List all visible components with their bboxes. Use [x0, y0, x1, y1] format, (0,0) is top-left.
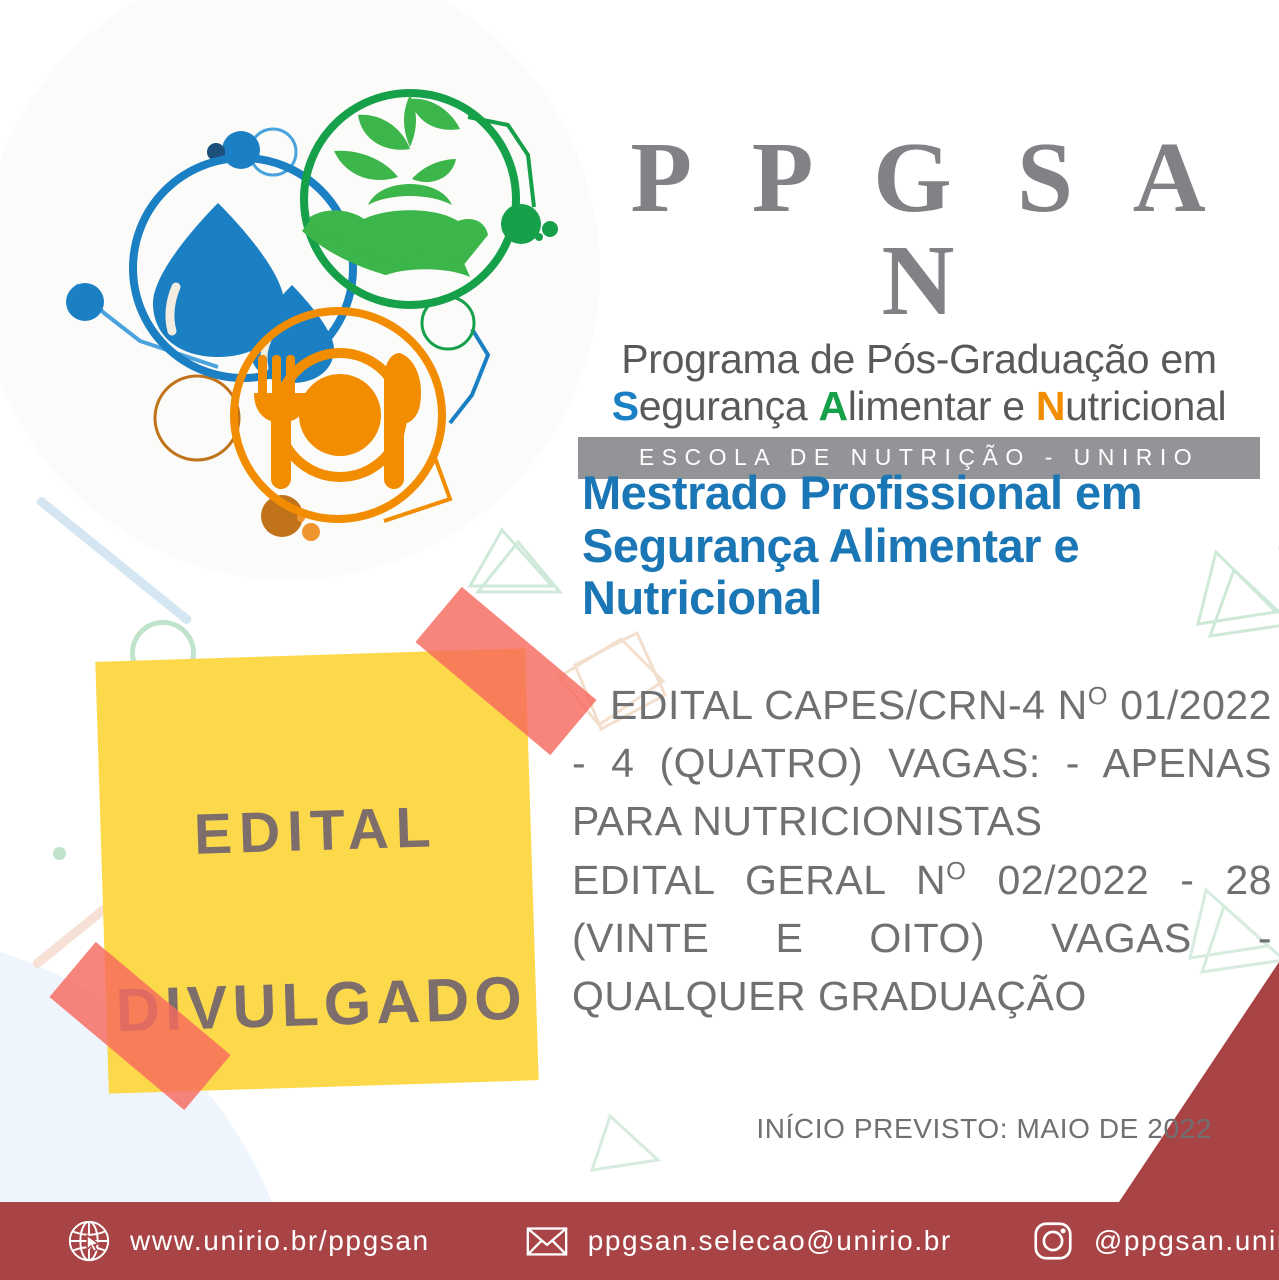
brand-header: P P G S A N Programa de Pós-Graduação em… — [578, 126, 1260, 479]
logo-ring-small-orange — [155, 376, 239, 460]
footer-instagram[interactable]: @ppgsan.unirio — [1030, 1218, 1279, 1264]
mail-icon — [524, 1218, 570, 1264]
ppgsan-logo — [58, 55, 578, 565]
brand-program-line2: Segurança Alimentar e Nutricional — [578, 384, 1260, 428]
brand-text-alimentar: limentar e — [848, 383, 1036, 429]
edital-geral-pre: EDITAL GERAL N — [572, 857, 946, 903]
footer-instagram-label: @ppgsan.unirio — [1094, 1225, 1279, 1257]
contact-footer: www.unirio.br/ppgsan ppgsan.selecao@unir… — [0, 1202, 1279, 1280]
logo-connector-green — [468, 117, 534, 207]
footer-website[interactable]: www.unirio.br/ppgsan — [66, 1218, 430, 1264]
brand-letter-s: S — [612, 383, 639, 429]
brand-text-seguranca: egurança — [639, 383, 819, 429]
brand-letter-a: A — [818, 383, 847, 429]
logo-connector-blue2 — [450, 329, 488, 423]
globe-icon — [66, 1218, 112, 1264]
course-title: Mestrado Profissional em Segurança Alime… — [582, 467, 1272, 625]
logo-dot-blue-left — [66, 283, 104, 321]
edital-geral-ordinal: O — [946, 857, 966, 885]
footer-email-label: ppgsan.selecao@unirio.br — [588, 1225, 952, 1257]
edital-paragraph-capes: EDITAL CAPES/CRN-4 NO 01/2022 - 4 (QUATR… — [572, 676, 1272, 851]
brand-acronym: P P G S A N — [578, 126, 1260, 332]
brand-letter-n: N — [1036, 383, 1065, 429]
start-date-note: INÍCIO PREVISTO: MAIO DE 2022 — [572, 1113, 1212, 1145]
footer-email[interactable]: ppgsan.selecao@unirio.br — [524, 1218, 952, 1264]
logo-plate-cutlery — [254, 353, 421, 489]
poster-canvas: P P G S A N Programa de Pós-Graduação em… — [0, 0, 1279, 1280]
edital-capes-ordinal: O — [1088, 682, 1108, 710]
logo-dot-green-tiny — [535, 233, 543, 241]
brand-program-line1: Programa de Pós-Graduação em — [578, 337, 1260, 381]
logo-hand-plant — [302, 95, 488, 277]
logo-svg — [58, 55, 578, 565]
edital-paragraph-geral: EDITAL GERAL NO 02/2022 - 28 (VINTE E OI… — [572, 851, 1272, 1026]
instagram-icon — [1030, 1218, 1076, 1264]
footer-website-label: www.unirio.br/ppgsan — [130, 1225, 430, 1257]
decor-dot-green — [53, 847, 66, 860]
edital-capes-pre: EDITAL CAPES/CRN-4 N — [610, 682, 1088, 728]
sticky-note-line1: EDITAL — [98, 740, 533, 922]
editais-body: EDITAL CAPES/CRN-4 NO 01/2022 - 4 (QUATR… — [572, 676, 1272, 1025]
logo-dot-blue-large — [222, 131, 260, 169]
logo-dot-green-small — [542, 221, 558, 237]
brand-text-nutricional: utricional — [1065, 383, 1226, 429]
logo-dot-orange-small — [302, 523, 320, 541]
